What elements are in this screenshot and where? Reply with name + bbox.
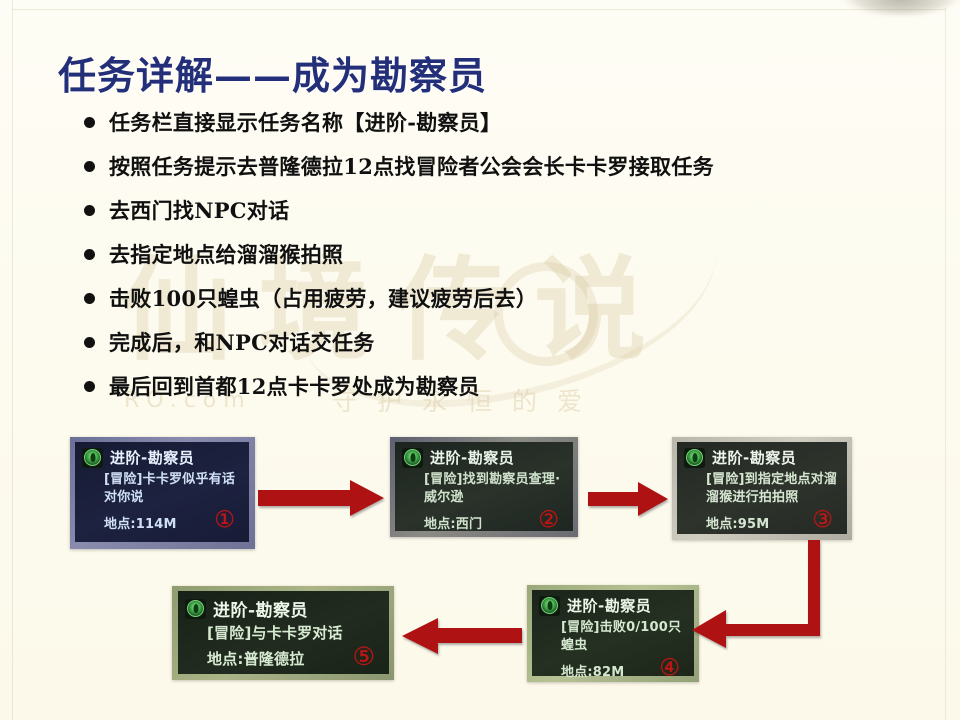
quest-location: 地点:114M [104, 513, 177, 532]
bullet-dot-icon [84, 249, 95, 260]
quest-location: 地点:西门 [424, 513, 482, 532]
quest-title: 进阶-勘察员 [430, 447, 514, 468]
list-item-label: 击败100只蝗虫（占用疲劳，建议疲劳后去） [109, 282, 537, 316]
quest-footer: 地点:82M ④ [539, 657, 686, 680]
arrow-3-to-4 [690, 540, 826, 648]
bullet-list: 任务栏直接显示任务名称【进阶-勘察员】 按照任务提示去普隆德拉12点找冒险者公会… [84, 106, 884, 414]
quest-screenshot-2: 进阶-勘察员 [冒险]找到勘察员查理·威尔逊 地点:西门 ② [390, 437, 578, 537]
quest-header: 进阶-勘察员 [402, 447, 565, 468]
quest-screenshot-4: 进阶-勘察员 [冒险]击败0/100只蝗虫 地点:82M ④ [527, 585, 699, 682]
quest-screenshot-3: 进阶-勘察员 [冒险]到指定地点对溜溜猴进行拍拍照 地点:95M ③ [672, 437, 852, 540]
list-item: 最后回到首都12点卡卡罗处成为勘察员 [84, 370, 884, 414]
quest-footer: 地点:114M ① [82, 509, 241, 532]
quest-location: 地点:普隆德拉 [207, 648, 304, 669]
quest-title: 进阶-勘察员 [567, 595, 651, 616]
quest-green-icon [82, 448, 103, 468]
slide-border-top [12, 9, 946, 10]
list-item: 去指定地点给溜溜猴拍照 [84, 238, 884, 282]
bullet-dot-icon [84, 293, 95, 304]
quest-green-icon [539, 596, 560, 616]
quest-description: [冒险]找到勘察员查理·威尔逊 [402, 471, 565, 507]
list-item-label: 按照任务提示去普隆德拉12点找冒险者公会会长卡卡罗接取任务 [109, 150, 714, 184]
quest-footer: 地点:西门 ② [402, 509, 565, 532]
list-item: 击败100只蝗虫（占用疲劳，建议疲劳后去） [84, 282, 884, 326]
bullet-dot-icon [84, 205, 95, 216]
list-item-label: 任务栏直接显示任务名称【进阶-勘察员】 [109, 106, 501, 140]
slide-border-left [12, 0, 13, 720]
quest-header: 进阶-勘察员 [82, 447, 241, 468]
bullet-dot-icon [84, 381, 95, 392]
quest-footer: 地点:普隆德拉 ⑤ [185, 644, 381, 669]
step-number-badge: ② [538, 509, 565, 532]
quest-header: 进阶-勘察员 [185, 596, 381, 621]
list-item: 去西门找NPC对话 [84, 194, 884, 238]
scan-artifact-smudge [842, 0, 960, 14]
quest-green-icon [185, 599, 206, 619]
quest-header: 进阶-勘察员 [684, 447, 839, 468]
list-item-label: 去指定地点给溜溜猴拍照 [109, 238, 343, 272]
quest-panel-body: 进阶-勘察员 [冒险]与卡卡罗对话 地点:普隆德拉 ⑤ [178, 591, 389, 674]
quest-header: 进阶-勘察员 [539, 595, 686, 616]
quest-green-icon [684, 448, 705, 468]
step-number-badge: ⑤ [353, 644, 381, 669]
list-item-label: 最后回到首都12点卡卡罗处成为勘察员 [109, 370, 480, 404]
list-item-label: 去西门找NPC对话 [109, 194, 289, 228]
arrow-1-to-2 [258, 478, 392, 518]
quest-panel-body: 进阶-勘察员 [冒险]击败0/100只蝗虫 地点:82M ④ [532, 590, 694, 676]
list-item-label: 完成后，和NPC对话交任务 [109, 326, 375, 360]
quest-location: 地点:95M [706, 513, 769, 532]
bullet-dot-icon [84, 117, 95, 128]
quest-screenshot-1: 进阶-勘察员 [冒险]卡卡罗似乎有话对你说 地点:114M ① [70, 437, 255, 549]
quest-description: [冒险]与卡卡罗对话 [185, 624, 381, 642]
quest-description: [冒险]击败0/100只蝗虫 [539, 619, 686, 655]
quest-screenshot-5: 进阶-勘察员 [冒险]与卡卡罗对话 地点:普隆德拉 ⑤ [172, 586, 394, 680]
bullet-dot-icon [84, 337, 95, 348]
quest-description: [冒险]到指定地点对溜溜猴进行拍拍照 [684, 471, 839, 507]
list-item: 任务栏直接显示任务名称【进阶-勘察员】 [84, 106, 884, 150]
quest-green-icon [402, 448, 423, 468]
step-number-badge: ④ [659, 657, 686, 680]
quest-title: 进阶-勘察员 [213, 596, 308, 621]
bullet-dot-icon [84, 161, 95, 172]
slide-canvas: 仙境传说 RO.com 守护永恒的爱 任务详解——成为勘察员 任务栏直接显示任务… [0, 0, 960, 720]
quest-description: [冒险]卡卡罗似乎有话对你说 [82, 471, 241, 507]
step-number-badge: ③ [812, 509, 839, 532]
slide-border-right [945, 8, 946, 720]
quest-panel-body: 进阶-勘察员 [冒险]卡卡罗似乎有话对你说 地点:114M ① [75, 442, 249, 542]
list-item: 完成后，和NPC对话交任务 [84, 326, 884, 370]
quest-location: 地点:82M [561, 661, 624, 680]
page-title: 任务详解——成为勘察员 [58, 45, 487, 100]
arrow-2-to-3 [588, 482, 674, 518]
quest-panel-body: 进阶-勘察员 [冒险]到指定地点对溜溜猴进行拍拍照 地点:95M ③ [677, 442, 847, 534]
quest-title: 进阶-勘察员 [712, 447, 796, 468]
quest-footer: 地点:95M ③ [684, 509, 839, 532]
arrow-4-to-5 [398, 618, 526, 656]
quest-title: 进阶-勘察员 [110, 447, 194, 468]
quest-panel-body: 进阶-勘察员 [冒险]找到勘察员查理·威尔逊 地点:西门 ② [395, 442, 573, 531]
step-number-badge: ① [214, 509, 241, 532]
list-item: 按照任务提示去普隆德拉12点找冒险者公会会长卡卡罗接取任务 [84, 150, 884, 194]
